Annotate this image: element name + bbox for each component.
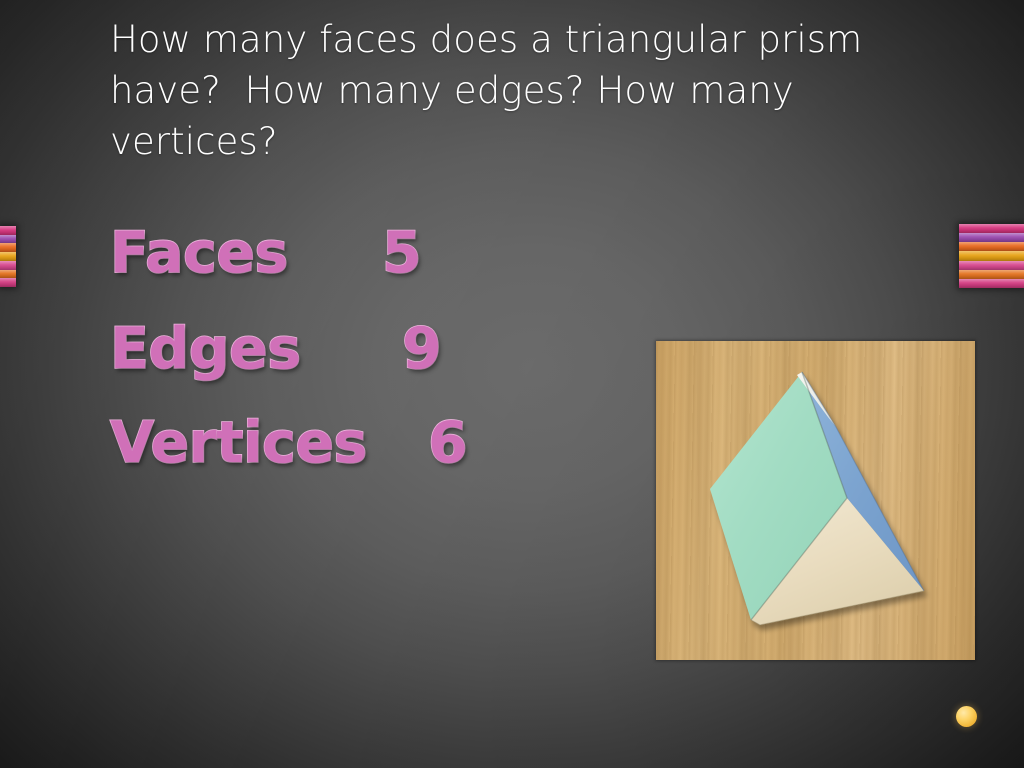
stripe-band-5: [959, 270, 1024, 279]
answer-row-vertices: Vertices 6: [110, 412, 630, 502]
stripe-band-1: [959, 233, 1024, 242]
stripe-band-0: [959, 224, 1024, 233]
stripe-band-3: [959, 251, 1024, 260]
answer-label-faces: Faces: [110, 222, 288, 284]
stripe-band-6: [0, 278, 16, 287]
stripe-band-6: [959, 279, 1024, 288]
answer-list: Faces 5 Edges 9 Vertices 6: [110, 222, 630, 502]
triangular-prism-photo: [656, 341, 975, 660]
stripe-band-1: [0, 235, 16, 244]
answer-label-vertices: Vertices: [110, 412, 367, 474]
page-title: How many faces does a triangular prism h…: [110, 14, 950, 167]
stripe-band-5: [0, 270, 16, 279]
answer-label-edges: Edges: [110, 318, 301, 380]
gold-bullet-dot: [956, 706, 977, 727]
striped-accent-bar-right: [959, 224, 1024, 288]
stripe-band-2: [959, 242, 1024, 251]
striped-accent-bar-left: [0, 226, 16, 287]
stripe-band-0: [0, 226, 16, 235]
answer-row-faces: Faces 5: [110, 222, 630, 318]
answer-value-vertices: 6: [428, 412, 467, 474]
stripe-band-4: [0, 261, 16, 270]
answer-value-edges: 9: [402, 318, 441, 380]
stripe-band-2: [0, 243, 16, 252]
prism-shape-overlay: [656, 341, 975, 660]
answer-row-edges: Edges 9: [110, 318, 630, 412]
stripe-band-3: [0, 252, 16, 261]
stripe-band-4: [959, 261, 1024, 270]
slide-canvas: How many faces does a triangular prism h…: [0, 0, 1024, 768]
answer-value-faces: 5: [382, 222, 421, 284]
